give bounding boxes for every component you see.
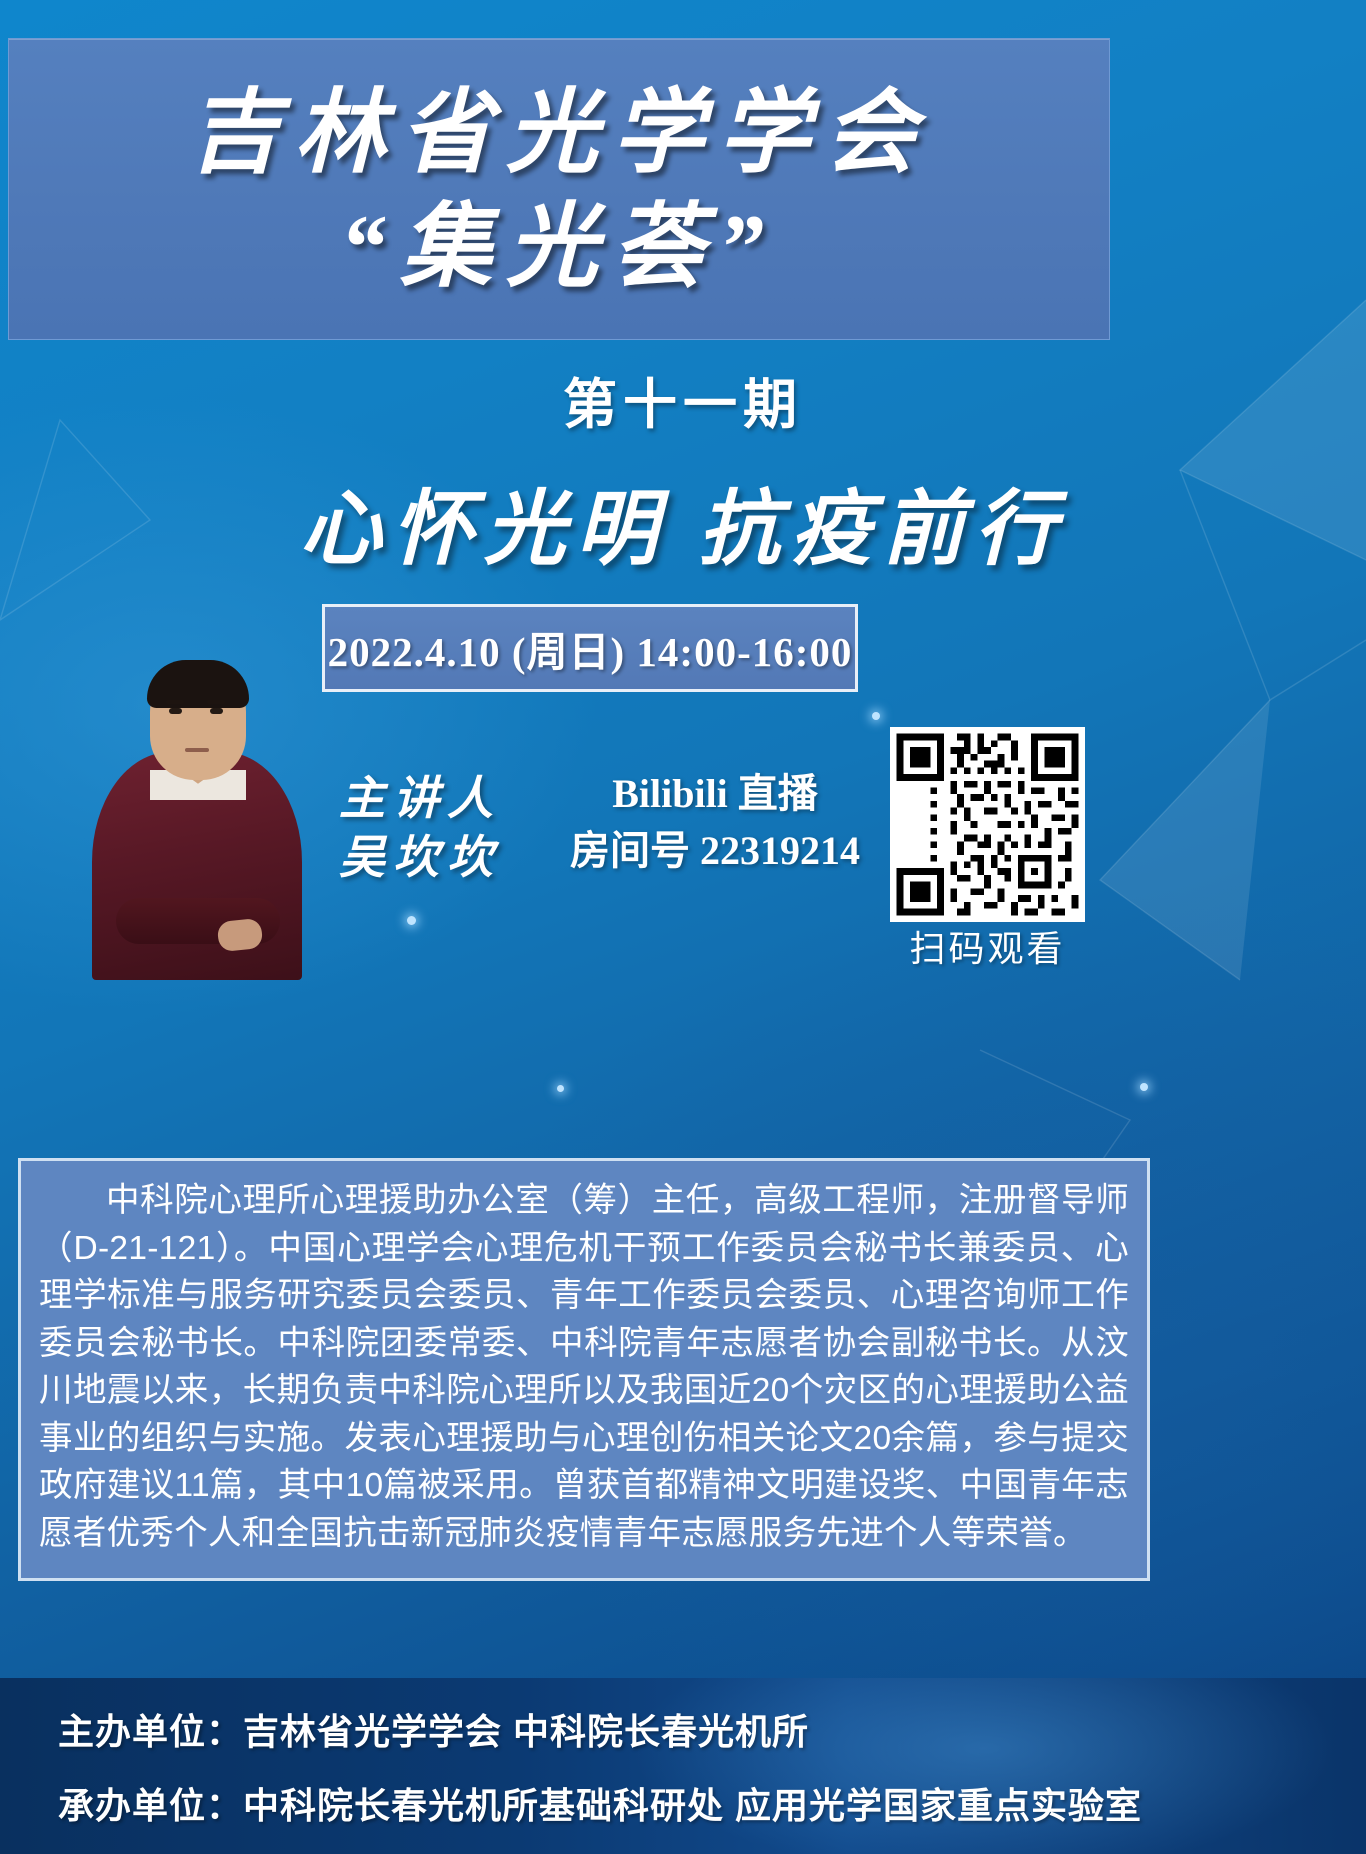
portrait-eyebrow-right bbox=[207, 700, 225, 704]
speaker-portrait bbox=[92, 660, 302, 980]
live-platform-label: Bilibili 直播 bbox=[540, 766, 890, 823]
light-dot bbox=[872, 712, 880, 720]
date-time-box: 2022.4.10 (周日) 14:00-16:00 bbox=[322, 604, 858, 692]
issue-number: 第十一期 bbox=[0, 360, 1366, 439]
title-banner: 吉林省光学学会 “集光荟” bbox=[8, 38, 1110, 340]
speaker-name: 吴坎坎 bbox=[300, 829, 540, 888]
footer-bar: 主办单位：吉林省光学学会 中科院长春光机所 承办单位：中科院长春光机所基础科研处… bbox=[0, 1678, 1366, 1854]
event-headline: 心怀光明 抗疫前行 bbox=[0, 462, 1366, 581]
poster-root: 吉林省光学学会 “集光荟” 第十一期 心怀光明 抗疫前行 2022.4.10 (… bbox=[0, 0, 1366, 1854]
light-dot bbox=[1140, 1083, 1148, 1091]
live-room-number: 房间号 22319214 bbox=[540, 823, 890, 880]
speaker-bio-text: 中科院心理所心理援助办公室（筹）主任，高级工程师，注册督导师（D-21-121）… bbox=[39, 1177, 1129, 1558]
portrait-eyebrow-left bbox=[166, 700, 184, 704]
speaker-role-label: 主讲人 bbox=[300, 770, 540, 829]
light-dot bbox=[557, 1085, 564, 1092]
banner-title-line2: “集光荟” bbox=[9, 201, 1109, 293]
light-dot bbox=[407, 916, 416, 925]
date-time-text: 2022.4.10 (周日) 14:00-16:00 bbox=[328, 618, 853, 678]
qr-code-icon[interactable] bbox=[890, 727, 1085, 922]
live-info-block: Bilibili 直播 房间号 22319214 bbox=[540, 766, 890, 880]
speaker-block: 主讲人 吴坎坎 bbox=[300, 770, 540, 888]
footer-co-organizer: 承办单位：中科院长春光机所基础科研处 应用光学国家重点实验室 bbox=[58, 1777, 1366, 1829]
qr-code-svg bbox=[890, 727, 1085, 922]
qr-caption: 扫码观看 bbox=[880, 920, 1095, 972]
portrait-hair bbox=[147, 660, 249, 708]
portrait-mouth bbox=[185, 748, 209, 752]
speaker-bio-box: 中科院心理所心理援助办公室（筹）主任，高级工程师，注册督导师（D-21-121）… bbox=[18, 1158, 1150, 1581]
banner-title-line1: 吉林省光学学会 bbox=[9, 87, 1109, 179]
portrait-eye-left bbox=[169, 708, 182, 714]
footer-organizer: 主办单位：吉林省光学学会 中科院长春光机所 bbox=[58, 1703, 1366, 1755]
portrait-eye-right bbox=[210, 708, 223, 714]
